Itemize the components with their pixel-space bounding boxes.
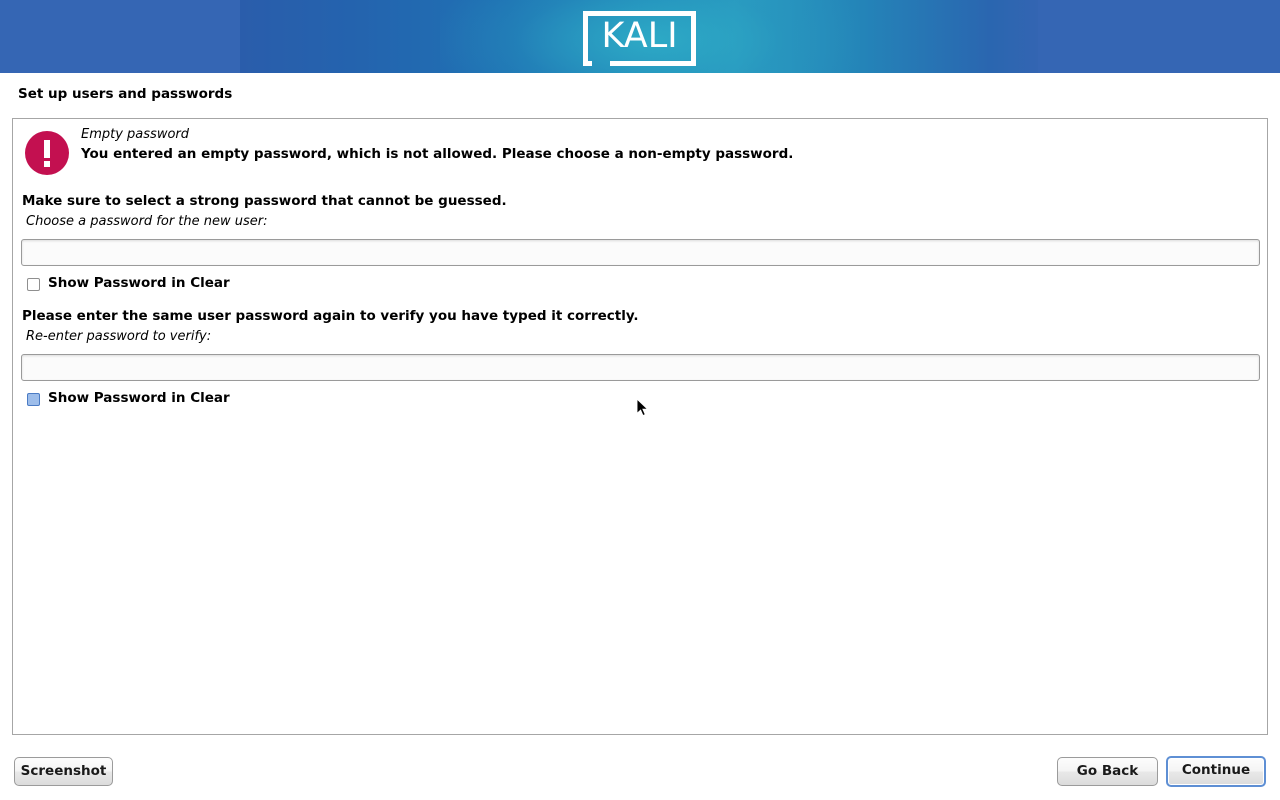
show-password-checkbox-2[interactable] [27, 393, 40, 406]
password-input[interactable] [21, 239, 1260, 266]
error-icon-bar [44, 140, 50, 158]
password-strength-heading: Make sure to select a strong password th… [22, 193, 507, 209]
password-field-label: Choose a password for the new user: [26, 214, 268, 229]
kali-logo-frame-bottom [610, 61, 696, 66]
mouse-pointer-icon [636, 398, 650, 418]
kali-logo-text: KALI [588, 11, 691, 61]
kali-logo-frame-bottom-stub [583, 61, 592, 66]
screenshot-button[interactable]: Screenshot [14, 757, 113, 786]
empty-password-error: Empty password You entered an empty pass… [13, 119, 1267, 185]
go-back-button[interactable]: Go Back [1057, 757, 1158, 786]
verify-password-input[interactable] [21, 354, 1260, 381]
error-message: You entered an empty password, which is … [81, 146, 793, 162]
kali-logo-frame-right [691, 11, 696, 66]
error-icon-dot [44, 161, 50, 167]
page-title: Set up users and passwords [18, 86, 232, 102]
verify-password-heading: Please enter the same user password agai… [22, 308, 639, 324]
error-exclamation-icon [25, 131, 69, 175]
show-password-checkbox-1[interactable] [27, 278, 40, 291]
show-password-checkbox-label-1: Show Password in Clear [48, 275, 230, 291]
kali-logo: KALI [583, 11, 696, 66]
show-password-checkbox-label-2: Show Password in Clear [48, 390, 230, 406]
kali-banner: KALI [0, 0, 1280, 73]
verify-password-field-label: Re-enter password to verify: [26, 329, 211, 344]
error-title: Empty password [81, 127, 189, 142]
continue-button[interactable]: Continue [1166, 756, 1266, 787]
installer-content-panel: Empty password You entered an empty pass… [12, 118, 1268, 735]
